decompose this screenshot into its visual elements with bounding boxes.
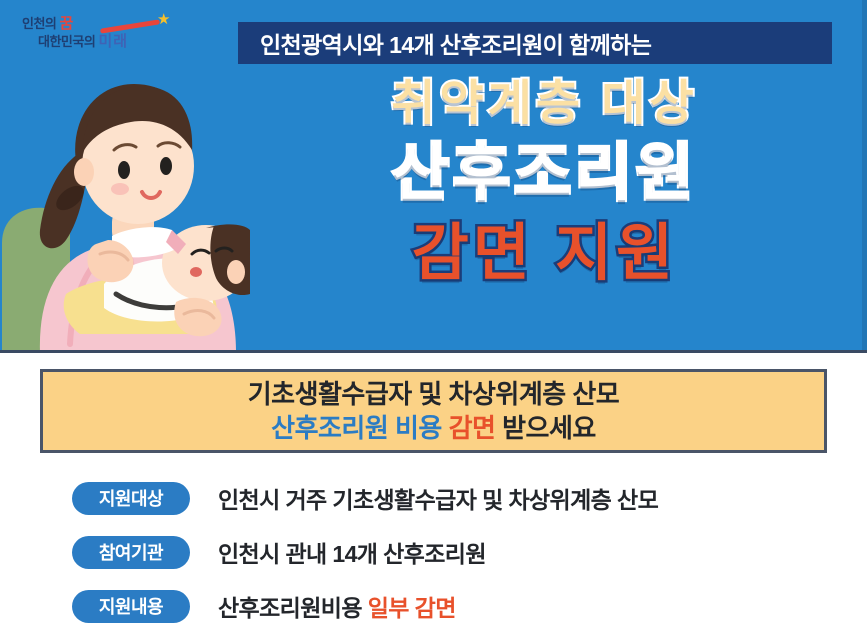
badge-benefit: 지원내용 [72, 590, 190, 623]
callout-box: 기초생활수급자 및 차상위계층 산모 산후조리원 비용 감면 받으세요 [40, 369, 827, 453]
info-row-benefit-text-main: 산후조리원비용 [218, 595, 362, 621]
info-row-eligibility-text: 인천시 거주 기초생활수급자 및 차상위계층 산모 [218, 481, 658, 515]
logo-text-incheon: 인천의 [22, 16, 56, 31]
logo-star-icon: ★ [157, 10, 170, 28]
callout-text-service: 산후조리원 비용 [271, 413, 442, 443]
headline-line-2: 산후조리원 [232, 134, 857, 214]
info-row-participants-text: 인천시 관내 14개 산후조리원 [218, 535, 486, 569]
info-row-eligibility: 지원대상 인천시 거주 기초생활수급자 및 차상위계층 산모 [0, 471, 867, 525]
hero-right-rail [862, 0, 867, 350]
headline-line-1: 취약계층 대상 [232, 74, 857, 134]
logo-text-future: 미래 [98, 33, 128, 50]
info-rows: 지원대상 인천시 거주 기초생활수급자 및 차상위계층 산모 참여기관 인천시 … [0, 471, 867, 625]
mother-and-baby-illustration [0, 58, 250, 353]
mother-eye-left [118, 161, 130, 179]
callout-text-receive: 받으세요 [502, 413, 596, 443]
logo-text-korea: 대한민국의 [38, 34, 95, 49]
info-row-benefit-text: 산후조리원비용 일부 감면 [218, 589, 456, 623]
mother-eye-right [160, 157, 172, 175]
lower-panel: 기초생활수급자 및 차상위계층 산모 산후조리원 비용 감면 받으세요 지원대상… [0, 353, 867, 625]
baby-ear [227, 260, 245, 284]
mother-cheek [111, 183, 129, 195]
ribbon-banner: 인천광역시와 14개 산후조리원이 함께하는 [238, 22, 832, 64]
callout-line-1: 기초생활수급자 및 차상위계층 산모 [248, 377, 619, 411]
info-row-benefit-text-accent: 일부 감면 [368, 595, 456, 621]
badge-eligibility: 지원대상 [72, 482, 190, 515]
hero-panel: 인천의 꿈 ★ 대한민국의 미래 인천광역시와 14개 산후조리원이 함께하는 … [0, 0, 867, 353]
info-row-participants: 참여기관 인천시 관내 14개 산후조리원 [0, 525, 867, 579]
badge-participants: 참여기관 [72, 536, 190, 569]
headline-line-3: 감면 지원 [232, 214, 857, 294]
baby-mouth [190, 267, 202, 277]
logo-line-2: 대한민국의 미래 [38, 30, 128, 51]
info-row-benefit: 지원내용 산후조리원비용 일부 감면 [0, 579, 867, 625]
callout-line-2: 산후조리원 비용 감면 받으세요 [271, 411, 596, 445]
ribbon-banner-text: 인천광역시와 14개 산후조리원이 함께하는 [260, 26, 651, 60]
incheon-city-logo: 인천의 꿈 ★ 대한민국의 미래 [22, 10, 202, 54]
mother-ear [74, 158, 94, 186]
headline-block: 취약계층 대상 산후조리원 감면 지원 [232, 74, 857, 294]
callout-text-discount: 감면 [449, 413, 496, 443]
poster-root: 인천의 꿈 ★ 대한민국의 미래 인천광역시와 14개 산후조리원이 함께하는 … [0, 0, 867, 625]
